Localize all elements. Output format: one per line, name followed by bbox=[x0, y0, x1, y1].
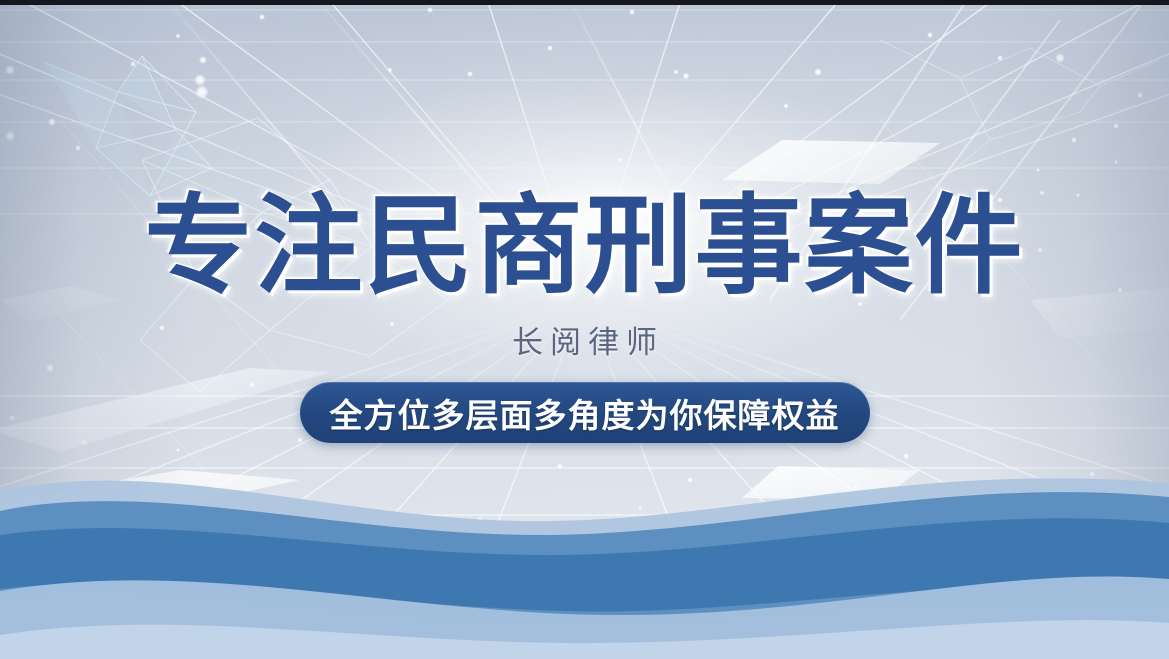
hero-headline: 专注民商刑事案件 bbox=[144, 191, 1024, 303]
tagline-pill: 全方位多层面多角度为你保障权益 bbox=[300, 382, 870, 443]
hero-content: 专注民商刑事案件 长阅律师 全方位多层面多角度为你保障权益 bbox=[0, 0, 1169, 659]
hero-subline: 长阅律师 bbox=[505, 317, 664, 362]
letterbox-bar-top bbox=[0, 0, 1169, 5]
tagline-text: 全方位多层面多角度为你保障权益 bbox=[330, 389, 840, 437]
banner-canvas: 专注民商刑事案件 长阅律师 全方位多层面多角度为你保障权益 bbox=[0, 0, 1169, 659]
